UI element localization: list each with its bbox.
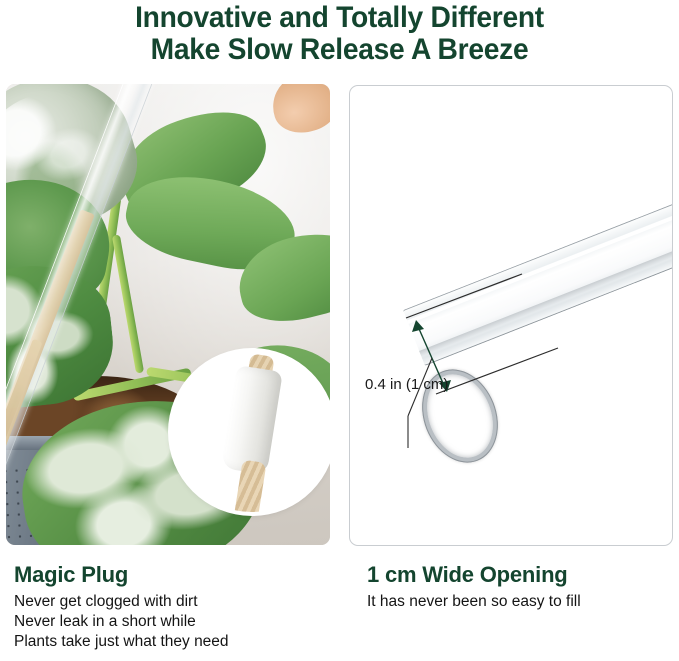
page-title-line-1: Innovative and Totally Different — [20, 2, 658, 34]
page-title-line-2: Make Slow Release A Breeze — [20, 34, 658, 66]
left-caption-line: Plants take just what they need — [14, 632, 334, 652]
dimension-annotation — [350, 86, 672, 545]
right-caption-line: It has never been so easy to fill — [367, 592, 667, 612]
left-caption-line: Never get clogged with dirt — [14, 592, 334, 612]
panels-row: 0.4 in (1 cm) — [0, 84, 679, 546]
arrow-head-upper — [412, 320, 424, 332]
left-caption-line: Never leak in a short while — [14, 612, 334, 632]
left-caption-heading: Magic Plug — [14, 562, 334, 588]
page-title: Innovative and Totally Different Make Sl… — [20, 2, 658, 66]
right-caption: 1 cm Wide Opening It has never been so e… — [367, 562, 667, 612]
plug-closeup-inset — [172, 352, 330, 512]
right-caption-heading: 1 cm Wide Opening — [367, 562, 667, 588]
ceramic-plug-body — [221, 365, 283, 475]
right-diagram-panel: 0.4 in (1 cm) — [349, 85, 673, 546]
dimension-label: 0.4 in (1 cm) — [365, 376, 535, 393]
left-caption: Magic Plug Never get clogged with dirt N… — [14, 562, 334, 652]
left-photo-panel — [6, 84, 330, 545]
infographic-page: Innovative and Totally Different Make Sl… — [0, 0, 679, 661]
